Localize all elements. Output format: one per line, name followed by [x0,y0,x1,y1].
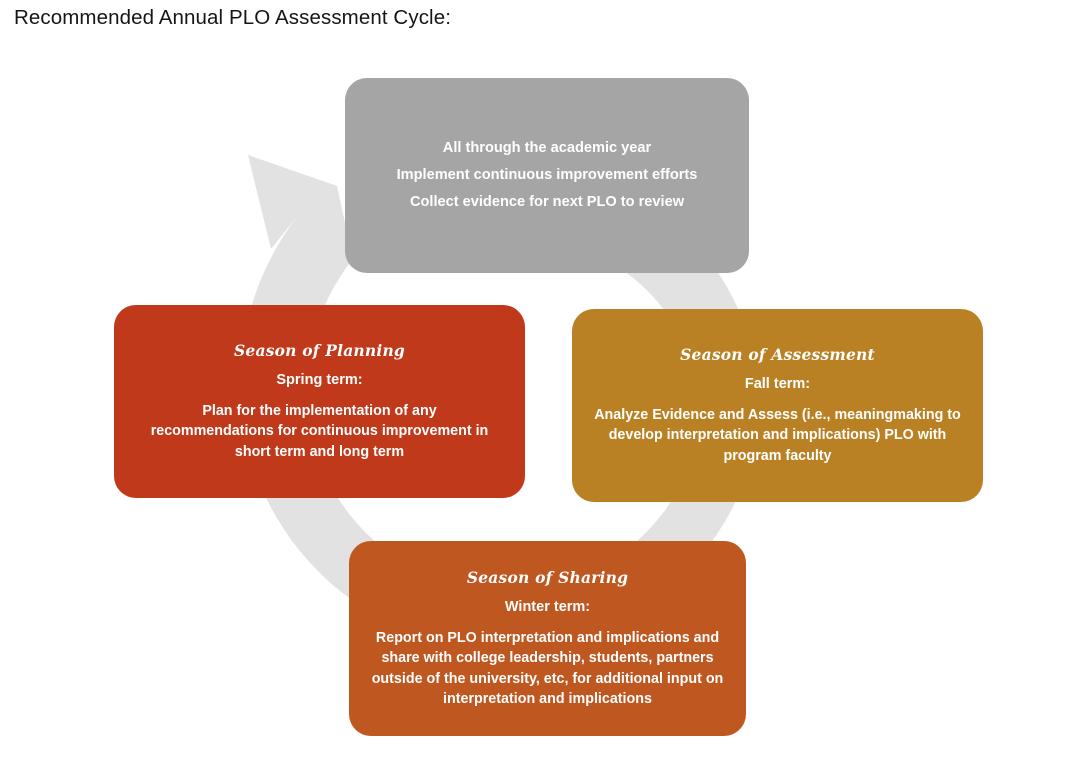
planning-heading: Season of Planning [234,341,405,360]
assessment-heading: Season of Assessment [680,345,875,364]
plo-assessment-cycle-diagram: Recommended Annual PLO Assessment Cycle:… [0,0,1080,769]
ongoing-line-3: Collect evidence for next PLO to review [410,189,684,216]
cycle-node-ongoing[interactable]: All through the academic year Implement … [345,78,749,273]
planning-body: Plan for the implementation of any recom… [144,401,496,462]
ongoing-line-1: All through the academic year [443,135,651,162]
sharing-body: Report on PLO interpretation and implica… [365,628,730,709]
planning-term: Spring term: [276,371,362,390]
assessment-body: Analyze Evidence and Assess (i.e., meani… [588,405,967,466]
sharing-heading: Season of Sharing [467,568,628,587]
sharing-term: Winter term: [505,598,590,617]
cycle-node-assessment[interactable]: Season of Assessment Fall term: Analyze … [572,309,983,502]
cycle-node-planning[interactable]: Season of Planning Spring term: Plan for… [114,305,525,498]
assessment-term: Fall term: [745,375,810,394]
page-title: Recommended Annual PLO Assessment Cycle: [14,6,451,30]
ongoing-line-2: Implement continuous improvement efforts [397,162,698,189]
cycle-node-sharing[interactable]: Season of Sharing Winter term: Report on… [349,541,746,736]
